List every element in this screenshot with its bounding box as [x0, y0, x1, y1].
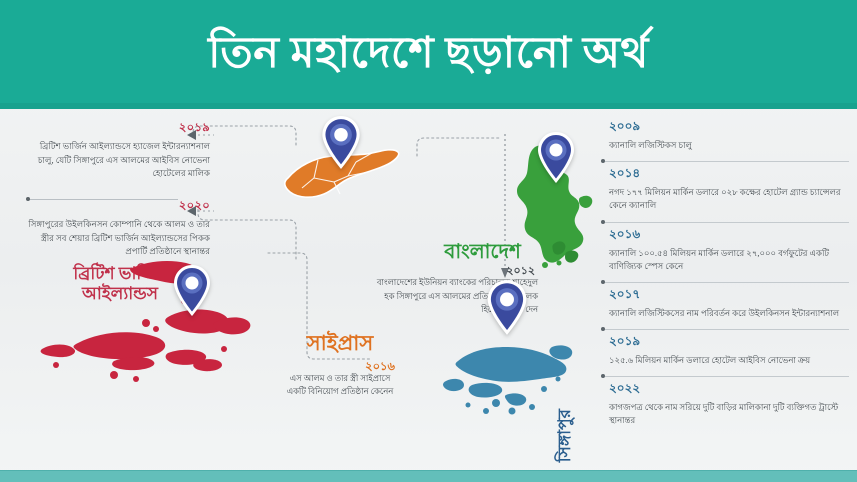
infographic-canvas: ২০১৯ ব্রিটিশ ভার্জিন আইল্যান্ডসে হ্যাজেল… [0, 109, 857, 470]
location-pin-icon-bangladesh [536, 131, 576, 185]
header-bar: তিন মহাদেশে ছড়ানো অর্থ [0, 0, 857, 109]
location-pin-icon-cyprus [320, 115, 362, 171]
timeline-divider-2 [605, 161, 849, 162]
timeline-item-2016-year: ২০১৬ [609, 222, 849, 246]
timeline-divider-6 [605, 376, 849, 377]
timeline-dot-6 [601, 374, 605, 378]
region-label-cyprus: সাইপ্রাস [285, 327, 395, 362]
timeline-item-2017: ২০১৭ ক্যানালি লজিস্টিকসের নাম পরিবর্তন ক… [597, 282, 849, 322]
timeline-divider-4 [605, 282, 849, 283]
infographic-page: তিন মহাদেশে ছড়ানো অর্থ [0, 0, 857, 482]
timeline-item-2009-body: ক্যানালি লজিস্টিকস চালু [609, 138, 849, 152]
timeline-dot-2 [601, 159, 605, 163]
timeline-item-2009-year: ২০০৯ [609, 114, 849, 138]
timeline-divider-3 [605, 222, 849, 223]
timeline-item-2022-year: ২০২২ [609, 376, 849, 400]
timeline-dot-5 [601, 327, 605, 331]
left-block-2020: ২০২০ সিঙ্গাপুরের উইলকিনসন কোম্পানি থেকে … [25, 197, 210, 259]
left-block-2019-year: ২০১৯ [25, 119, 210, 138]
timeline-dot-4 [601, 280, 605, 284]
left-block-2019-body: ব্রিটিশ ভার্জিন আইল্যান্ডসে হ্যাজেল ইন্ট… [25, 140, 210, 181]
region-label-singapore: সিঙ্গাপুর [551, 409, 579, 462]
timeline-dot-3 [601, 220, 605, 224]
timeline-item-2022-body: কাগজপত্র থেকে নাম সরিয়ে দুটি বাড়ির মাল… [609, 400, 849, 427]
map-british-virgin-islands [18, 257, 258, 387]
location-pin-icon-bvi [172, 264, 212, 318]
timeline-item-2016-body: ক্যানালি ১০০.৫৪ মিলিয়ন মার্কিন ডলারে ২৭… [609, 246, 849, 273]
cyprus-body: এস আলম ও তার স্ত্রী সাইপ্রাসে একটি বিনিয… [280, 372, 400, 399]
page-title: তিন মহাদেশে ছড়ানো অর্থ [208, 30, 649, 78]
timeline-item-2016: ২০১৬ ক্যানালি ১০০.৫৪ মিলিয়ন মার্কিন ডলা… [597, 222, 849, 275]
location-pin-icon-singapore [485, 279, 529, 337]
timeline-item-2019-year: ২০১৯ [609, 329, 849, 353]
timeline-item-2019-body: ১২৫.৬ মিলিয়ন মার্কিন ডলারে হোটেল আইবিস … [609, 353, 849, 367]
timeline-item-2022: ২০২২ কাগজপত্র থেকে নাম সরিয়ে দুটি বাড়ি… [597, 376, 849, 429]
timeline-item-2017-year: ২০১৭ [609, 282, 849, 306]
timeline-item-2014: ২০১৪ নগদ ১৭৭ মিলিয়ন মার্কিন ডলারে ০২৮ ক… [597, 161, 849, 214]
timeline-item-2014-year: ২০১৪ [609, 161, 849, 185]
timeline-divider-5 [605, 329, 849, 330]
timeline-item-2019: ২০১৯ ১২৫.৬ মিলিয়ন মার্কিন ডলারে হোটেল আ… [597, 329, 849, 369]
timeline-item-2017-body: ক্যানালি লজিস্টিকসের নাম পরিবর্তন করে উই… [609, 306, 849, 320]
timeline-item-2014-body: নগদ ১৭৭ মিলিয়ন মার্কিন ডলারে ০২৮ কক্ষের… [609, 185, 849, 212]
footer-bar [0, 470, 857, 482]
right-timeline: ২০০৯ ক্যানালি লজিস্টিকস চালু ২০১৪ নগদ ১৭… [597, 114, 849, 430]
timeline-item-2009: ২০০৯ ক্যানালি লজিস্টিকস চালু [597, 114, 849, 154]
left-block-2019: ২০১৯ ব্রিটিশ ভার্জিন আইল্যান্ডসে হ্যাজেল… [25, 119, 210, 181]
left-block-2020-year: ২০২০ [25, 197, 210, 216]
left-block-2020-body: সিঙ্গাপুরের উইলকিনসন কোম্পানি থেকে আলম ও… [25, 218, 210, 259]
